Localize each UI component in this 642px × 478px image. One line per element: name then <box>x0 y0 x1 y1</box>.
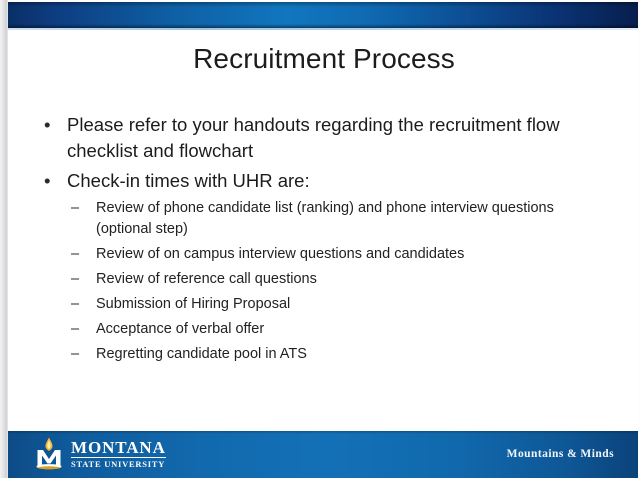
list-item: – Submission of Hiring Proposal <box>67 294 612 315</box>
list-item: • Please refer to your handouts regardin… <box>38 112 612 164</box>
slide-header-banner <box>8 2 640 28</box>
slide-header-accent-line <box>8 28 640 30</box>
sub-bullet-text: Regretting candidate pool in ATS <box>96 344 612 365</box>
slide-footer-banner: MONTANA STATE UNIVERSITY Mountains & Min… <box>8 431 642 478</box>
wordmark-state-university: STATE UNIVERSITY <box>71 460 166 469</box>
university-logo: MONTANA STATE UNIVERSITY <box>34 437 166 471</box>
montana-state-m-flame-icon <box>34 437 64 471</box>
bullet-dot-icon: • <box>44 168 50 194</box>
bullet-list: • Please refer to your handouts regardin… <box>38 112 612 365</box>
bullet-dash-icon: – <box>71 244 79 265</box>
sub-bullet-text: Submission of Hiring Proposal <box>96 294 612 315</box>
sub-bullet-list: – Review of phone candidate list (rankin… <box>38 198 612 365</box>
page-title: Recruitment Process <box>8 42 640 76</box>
sub-bullet-text: Acceptance of verbal offer <box>96 319 612 340</box>
slide-body: • Please refer to your handouts regardin… <box>38 112 612 369</box>
university-tagline: Mountains & Minds <box>507 448 614 460</box>
bullet-dot-icon: • <box>44 112 50 138</box>
right-letterbox-strip <box>638 0 642 478</box>
sub-bullet-text: Review of reference call questions <box>96 269 612 290</box>
wordmark-montana: MONTANA <box>71 439 166 458</box>
list-item: – Acceptance of verbal offer <box>67 319 612 340</box>
sub-bullet-text: Review of on campus interview questions … <box>96 244 612 265</box>
left-letterbox-strip <box>0 0 8 478</box>
bullet-text: Check-in times with UHR are: <box>67 168 612 194</box>
list-item: • Check-in times with UHR are: <box>38 168 612 194</box>
presentation-slide: Recruitment Process • Please refer to yo… <box>0 0 642 478</box>
list-item: – Review of on campus interview question… <box>67 244 612 265</box>
sub-bullet-text: Review of phone candidate list (ranking)… <box>96 198 612 240</box>
list-item: – Regretting candidate pool in ATS <box>67 344 612 365</box>
bullet-dash-icon: – <box>71 269 79 290</box>
list-item: – Review of reference call questions <box>67 269 612 290</box>
bullet-dash-icon: – <box>71 294 79 315</box>
bullet-text: Please refer to your handouts regarding … <box>67 112 612 164</box>
bullet-dash-icon: – <box>71 344 79 365</box>
bullet-dash-icon: – <box>71 198 79 219</box>
bullet-dash-icon: – <box>71 319 79 340</box>
list-item: – Review of phone candidate list (rankin… <box>67 198 612 240</box>
university-wordmark: MONTANA STATE UNIVERSITY <box>71 439 166 471</box>
